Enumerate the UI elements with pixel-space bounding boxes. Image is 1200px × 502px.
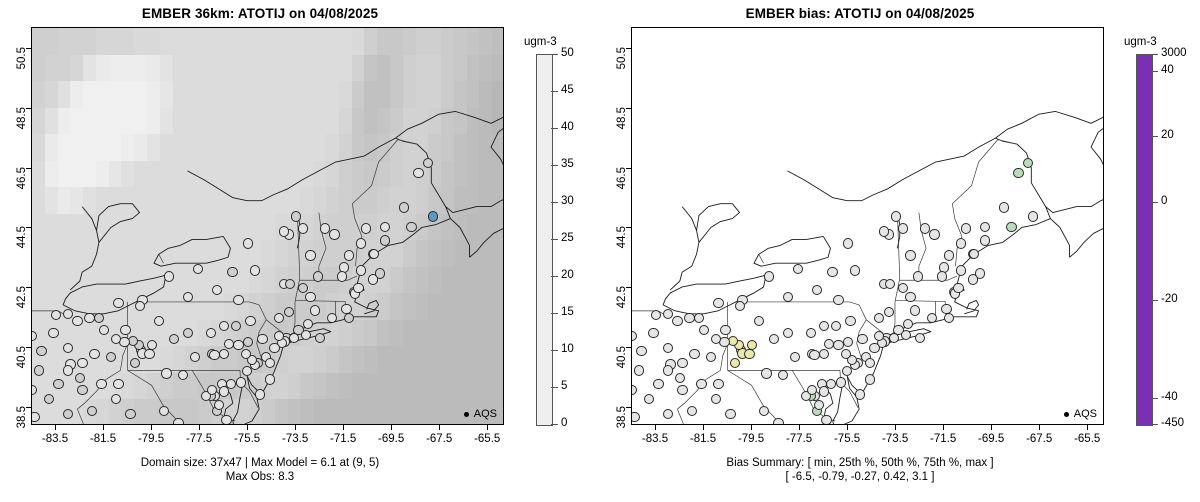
map-outline-path <box>697 204 740 243</box>
colorbar-tick-mark <box>551 387 558 388</box>
colorbar-tick-label: 35 <box>561 158 574 170</box>
model-caption-line1: Domain size: 37x47 | Max Model = 6.1 at … <box>0 456 520 470</box>
colorbar-tick-mark <box>551 91 558 92</box>
colorbar-tick-label: -450 <box>1161 417 1184 429</box>
bias-aqs-legend-label: AQS <box>1074 408 1097 420</box>
monitor-site-marker <box>89 349 99 359</box>
monitor-site-marker <box>843 238 853 248</box>
monitor-site-marker <box>819 386 829 396</box>
y-tick-label: 50.5 <box>16 47 28 93</box>
x-tick-label: -67.5 <box>1013 433 1065 445</box>
monitor-site-marker <box>269 343 279 353</box>
model-aqs-legend: AQS <box>461 407 500 421</box>
monitor-site-marker <box>850 265 860 275</box>
map-outline-path <box>754 236 830 266</box>
monitor-site-marker <box>250 265 260 275</box>
map-outline-path <box>70 207 99 290</box>
monitor-site-marker <box>77 358 87 368</box>
x-tick-label: -75.5 <box>821 433 873 445</box>
x-tick-label: -65.5 <box>1061 433 1113 445</box>
map-outline-path <box>787 138 995 201</box>
colorbar-tick-label: 50 <box>561 47 574 59</box>
model-caption-line2: Max Obs: 8.3 <box>0 470 520 484</box>
map-outline-path <box>759 254 764 263</box>
monitor-site-marker <box>842 366 852 376</box>
x-tick-mark <box>847 425 848 430</box>
monitor-site-marker <box>399 202 409 212</box>
colorbar-tick-mark <box>1151 71 1158 72</box>
colorbar-tick-label: 40 <box>1161 64 1174 76</box>
ember-figure: EMBER 36km: ATOTIJ on 04/08/2025 AQS 38.… <box>0 0 1200 502</box>
map-outline-path <box>1046 189 1103 257</box>
colorbar-tick-label: 10 <box>561 343 574 355</box>
monitor-site-marker <box>812 285 822 295</box>
colorbar-tick-label: 15 <box>561 306 574 318</box>
monitor-site-marker <box>827 267 837 277</box>
monitor-site-marker <box>879 226 889 236</box>
map-outline-path <box>395 108 503 206</box>
colorbar-tick-mark <box>551 276 558 277</box>
monitor-site-marker <box>980 235 990 245</box>
x-tick-mark <box>439 425 440 430</box>
monitor-site-marker <box>689 349 699 359</box>
colorbar-tick-mark <box>1151 136 1158 137</box>
monitor-site-marker <box>337 271 347 281</box>
y-tick-label: 42.5 <box>616 286 628 332</box>
y-tick-label: 42.5 <box>16 286 28 332</box>
colorbar-tick-label: -40 <box>1161 391 1178 403</box>
monitor-site-marker <box>236 377 246 387</box>
monitor-site-marker <box>289 333 299 343</box>
aqs-dot-icon <box>464 412 469 417</box>
monitor-site-marker <box>937 271 947 281</box>
monitor-site-marker <box>855 389 865 399</box>
x-tick-mark <box>991 425 992 430</box>
x-tick-mark <box>1087 425 1088 430</box>
monitor-site-marker <box>255 389 265 399</box>
map-outline-path <box>900 276 957 280</box>
y-tick-label: 40.5 <box>616 346 628 392</box>
monitor-site-marker <box>242 366 252 376</box>
panel-bias-title: EMBER bias: ATOTIJ on 04/08/2025 <box>600 6 1120 21</box>
colorbar-tick-label: 20 <box>561 269 574 281</box>
x-tick-mark <box>391 425 392 430</box>
y-tick-label: 46.5 <box>616 167 628 213</box>
monitor-site-marker <box>929 229 939 239</box>
monitor-site-marker <box>31 412 40 422</box>
monitor-site-marker <box>891 211 901 221</box>
monitor-site-marker <box>915 333 925 343</box>
y-tick-label: 50.5 <box>616 47 628 93</box>
monitor-site-marker <box>53 379 63 389</box>
monitor-site-marker <box>677 358 687 368</box>
x-tick-label: -83.5 <box>629 433 681 445</box>
monitor-site-marker <box>193 264 203 274</box>
monitor-site-marker <box>265 374 275 384</box>
colorbar-tick-mark <box>551 202 558 203</box>
colorbar-tick-mark <box>1151 202 1158 203</box>
colorbar-tick-label: 30 <box>561 195 574 207</box>
map-outline-path <box>159 254 164 263</box>
x-tick-mark <box>895 425 896 430</box>
x-tick-mark <box>295 425 296 430</box>
monitor-site-marker <box>329 229 339 239</box>
y-tick-label: 38.5 <box>16 406 28 452</box>
y-tick-label: 46.5 <box>16 167 28 213</box>
x-tick-label: -65.5 <box>461 433 513 445</box>
bias-colorbar-unit: ugm-3 <box>1124 36 1157 48</box>
colorbar-tick-label: 3000 <box>1161 47 1187 59</box>
x-tick-mark <box>655 425 656 430</box>
model-colorbar-unit: ugm-3 <box>524 36 557 48</box>
panel-model-title: EMBER 36km: ATOTIJ on 04/08/2025 <box>0 6 520 21</box>
monitor-site-marker <box>773 418 783 425</box>
monitor-site-marker <box>631 412 640 422</box>
monitor-site-marker <box>653 379 663 389</box>
colorbar-tick-label: 0 <box>561 417 567 429</box>
colorbar-tick-label: 20 <box>1161 129 1174 141</box>
monitor-site-marker <box>865 374 875 384</box>
aqs-dot-icon <box>1064 412 1069 417</box>
colorbar-tick-mark <box>551 165 558 166</box>
monitor-site-marker <box>173 418 183 425</box>
x-tick-label: -77.5 <box>773 433 825 445</box>
monitor-site-marker <box>713 379 723 389</box>
monitor-site-marker <box>869 343 879 353</box>
map-outline-path <box>352 140 417 204</box>
monitor-site-marker <box>113 379 123 389</box>
monitor-site-marker <box>857 334 867 344</box>
x-tick-mark <box>943 425 944 430</box>
monitor-site-marker <box>956 265 966 275</box>
colorbar-tick-label: 40 <box>561 121 574 133</box>
monitor-site-marker <box>212 285 222 295</box>
monitor-site-marker <box>161 368 171 378</box>
monitor-site-marker <box>164 271 174 281</box>
x-tick-mark <box>487 425 488 430</box>
monitor-site-marker <box>356 238 366 248</box>
y-tick-label: 44.5 <box>616 226 628 272</box>
monitor-site-marker <box>315 333 325 343</box>
model-map-plot-area: AQS <box>31 27 504 425</box>
bias-caption-line2: [ -6.5, -0.79, -0.27, 0.42, 3.1 ] <box>600 470 1120 484</box>
x-tick-label: -81.5 <box>77 433 129 445</box>
monitor-site-marker <box>999 202 1009 212</box>
map-outline-path <box>154 236 230 266</box>
monitor-site-marker <box>257 334 267 344</box>
colorbar-tick-mark <box>1151 54 1158 55</box>
x-tick-mark <box>199 425 200 430</box>
map-outline-path <box>670 207 699 290</box>
monitor-site-marker <box>279 226 289 236</box>
monitor-site-marker <box>96 379 106 389</box>
monitor-site-marker <box>944 250 954 260</box>
monitor-site-marker <box>63 309 73 319</box>
monitor-site-marker <box>713 298 723 308</box>
monitor-site-marker <box>761 368 771 378</box>
model-colorbar-gradient <box>536 54 553 426</box>
monitor-site-marker <box>113 298 123 308</box>
colorbar-tick-mark <box>1151 424 1158 425</box>
monitor-site-marker <box>836 377 846 387</box>
monitor-site-marker <box>313 271 323 281</box>
colorbar-tick-mark <box>551 424 558 425</box>
monitor-site-marker <box>696 379 706 389</box>
x-tick-mark <box>751 425 752 430</box>
x-tick-label: -73.5 <box>269 433 321 445</box>
bias-map-plot-area: AQS <box>631 27 1104 425</box>
monitor-site-marker <box>291 211 301 221</box>
bias-aqs-legend: AQS <box>1061 407 1100 421</box>
x-tick-label: -71.5 <box>317 433 369 445</box>
y-tick-label: 48.5 <box>616 107 628 153</box>
x-tick-mark <box>151 425 152 430</box>
colorbar-tick-label: 45 <box>561 84 574 96</box>
x-tick-label: -69.5 <box>365 433 417 445</box>
bias-caption-line1: Bias Summary: [ min, 25th %, 50th %, 75t… <box>600 456 1120 470</box>
x-tick-label: -77.5 <box>173 433 225 445</box>
x-tick-mark <box>55 425 56 430</box>
monitor-site-marker <box>764 271 774 281</box>
monitor-site-marker <box>663 365 673 375</box>
panel-bias: EMBER bias: ATOTIJ on 04/08/2025 AQS 38.… <box>600 0 1200 502</box>
monitor-site-marker <box>1028 211 1038 221</box>
map-outline-path <box>233 385 243 424</box>
monitor-site-marker <box>968 274 978 284</box>
colorbar-tick-label: 5 <box>561 380 567 392</box>
x-tick-mark <box>703 425 704 430</box>
x-tick-label: -71.5 <box>917 433 969 445</box>
y-tick-label: 40.5 <box>16 346 28 392</box>
x-tick-label: -75.5 <box>221 433 273 445</box>
monitor-site-marker <box>956 238 966 248</box>
monitor-site-marker <box>356 265 366 275</box>
map-outline-path <box>97 204 140 243</box>
colorbar-tick-label: 25 <box>561 232 574 244</box>
monitor-site-marker <box>905 250 915 260</box>
model-aqs-legend-label: AQS <box>474 408 497 420</box>
x-tick-label: -67.5 <box>413 433 465 445</box>
map-outline-path <box>300 276 357 280</box>
x-tick-label: -83.5 <box>29 433 81 445</box>
x-tick-label: -73.5 <box>869 433 921 445</box>
monitor-site-marker <box>913 271 923 281</box>
map-outline-path <box>63 275 166 314</box>
monitor-site-marker <box>305 250 315 260</box>
y-tick-label: 48.5 <box>16 107 28 153</box>
x-tick-mark <box>247 425 248 430</box>
monitor-site-marker <box>1013 168 1023 178</box>
colorbar-tick-mark <box>551 239 558 240</box>
colorbar-tick-mark <box>551 128 558 129</box>
map-outline-path <box>964 300 978 313</box>
colorbar-tick-mark <box>551 350 558 351</box>
monitor-site-marker <box>125 409 135 419</box>
colorbar-tick-mark <box>551 54 558 55</box>
x-tick-label: -79.5 <box>125 433 177 445</box>
x-tick-label: -81.5 <box>677 433 729 445</box>
monitor-site-marker <box>413 168 423 178</box>
monitor-site-marker <box>301 330 311 340</box>
map-outline-path <box>952 140 1017 204</box>
monitor-site-marker <box>1006 222 1016 232</box>
colorbar-tick-label: 0 <box>1161 195 1167 207</box>
monitor-site-marker <box>243 238 253 248</box>
monitor-site-marker <box>889 333 899 343</box>
monitor-site-marker <box>793 264 803 274</box>
monitor-site-marker <box>77 385 87 395</box>
monitor-site-marker <box>227 267 237 277</box>
monitor-site-marker <box>961 223 971 233</box>
x-tick-mark <box>799 425 800 430</box>
x-tick-mark <box>1039 425 1040 430</box>
x-tick-mark <box>103 425 104 430</box>
x-tick-mark <box>343 425 344 430</box>
monitor-site-marker <box>821 415 831 425</box>
map-outline-path <box>995 108 1103 206</box>
monitor-site-marker <box>221 415 231 425</box>
colorbar-tick-mark <box>1151 398 1158 399</box>
monitor-site-marker <box>677 385 687 395</box>
monitor-site-marker <box>219 386 229 396</box>
map-outline-path <box>663 275 766 314</box>
map-outline-path <box>187 138 395 201</box>
monitor-site-marker <box>901 330 911 340</box>
monitor-site-marker <box>63 365 73 375</box>
monitor-site-marker <box>428 211 438 221</box>
monitor-site-marker <box>361 223 371 233</box>
colorbar-tick-mark <box>1151 300 1158 301</box>
map-outline-path <box>446 189 503 257</box>
map-outline-path <box>364 300 378 313</box>
monitor-site-marker <box>368 274 378 284</box>
x-tick-label: -79.5 <box>725 433 777 445</box>
colorbar-tick-mark <box>551 313 558 314</box>
monitor-site-marker <box>344 250 354 260</box>
monitor-site-marker <box>725 409 735 419</box>
colorbar-tick-label: -20 <box>1161 293 1178 305</box>
monitor-site-marker <box>406 222 416 232</box>
map-outline-path <box>833 385 843 424</box>
monitor-site-marker <box>380 235 390 245</box>
y-tick-label: 44.5 <box>16 226 28 272</box>
panel-model: EMBER 36km: ATOTIJ on 04/08/2025 AQS 38.… <box>0 0 600 502</box>
x-tick-label: -69.5 <box>965 433 1017 445</box>
bias-colorbar-gradient <box>1136 54 1153 426</box>
y-tick-label: 38.5 <box>616 406 628 452</box>
monitor-site-marker <box>663 309 673 319</box>
